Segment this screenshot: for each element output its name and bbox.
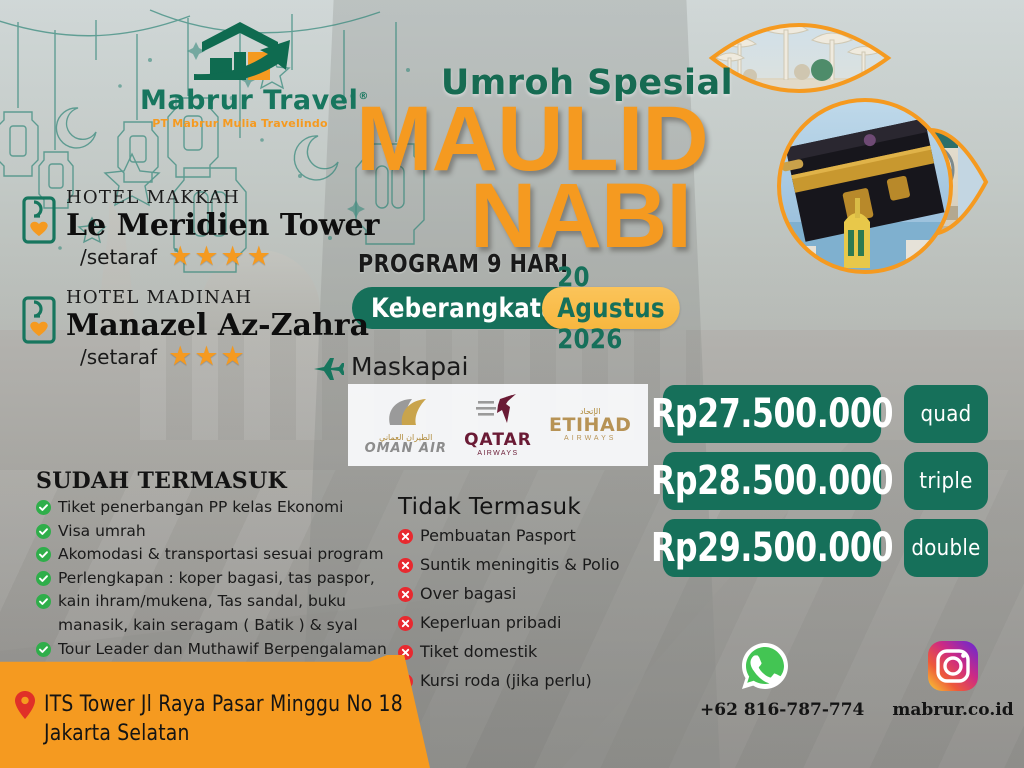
airlines-panel: الطيران العماني OMAN AIR QATAR AIRWAYS ا… <box>348 384 648 466</box>
poster-canvas: الله <box>0 0 1024 768</box>
included-item: Perlengkapan : koper bagasi, tas paspor, <box>36 568 396 592</box>
airline-oman-air-name: OMAN AIR <box>365 442 447 456</box>
hotel-makkah-stars: ★ ★ ★ ★ <box>168 243 271 270</box>
hotel-makkah-rating: /setaraf ★ ★ ★ ★ <box>80 243 379 270</box>
star-icon: ★ <box>221 343 245 370</box>
door-hanger-icon <box>22 194 56 246</box>
whatsapp-number: +62 816-787-774 <box>700 700 830 720</box>
included-item: Tour Leader dan Muthawif Berpengalaman <box>36 639 396 663</box>
address-line-1: ITS Tower Jl Raya Pasar Minggu No 18 <box>44 690 403 719</box>
check-circle-icon <box>36 524 51 545</box>
headline-title-line2: NABI <box>470 178 822 255</box>
excluded-item: Suntik meningitis & Polio <box>398 552 678 581</box>
hotel-madinah-label: HOTEL MADINAH <box>66 288 369 309</box>
qatar-oryx-logo-icon <box>474 393 522 427</box>
price-row: Rp29.500.000 double <box>648 519 1008 577</box>
price-row: Rp28.500.000 triple <box>648 452 1008 510</box>
airplane-icon <box>312 354 344 380</box>
airline-etihad-sub: AIRWAYS <box>549 435 631 442</box>
excluded-item: Keperluan pribadi <box>398 610 678 639</box>
star-icon: ★ <box>194 243 218 270</box>
instagram-icon <box>927 640 979 692</box>
airline-etihad-name: ETIHAD <box>549 416 631 436</box>
airlines-heading: Maskapai <box>312 352 468 381</box>
included-item: Akomodasi & transportasi sesuai program <box>36 544 396 568</box>
whatsapp-contact[interactable]: +62 816-787-774 <box>700 640 830 720</box>
hotel-madinah-name: Manazel Az-Zahra <box>66 309 369 343</box>
airline-oman-air: الطيران العماني OMAN AIR <box>365 395 447 456</box>
hotel-makkah-block: HOTEL MAKKAH Le Meridien Tower /setaraf … <box>22 188 379 270</box>
company-name: PT Mabrur Mulia Travelindo <box>140 117 340 130</box>
brand-logo[interactable]: Mabrur Travel® PT Mabrur Mulia Travelind… <box>140 18 340 133</box>
price-row: Rp27.500.000 quad <box>648 385 1008 443</box>
door-hanger-icon <box>22 294 56 346</box>
hotel-madinah-equivalent: /setaraf <box>80 345 157 369</box>
departure-date: 20 Agustus 2026 <box>542 287 680 329</box>
excluded-item: Kursi roda (jika perlu) <box>398 668 678 697</box>
map-pin-icon <box>14 690 36 720</box>
address-text: ITS Tower Jl Raya Pasar Minggu No 18 Jak… <box>44 690 403 748</box>
check-circle-icon <box>36 594 51 615</box>
hotel-makkah-equivalent: /setaraf <box>80 245 157 269</box>
price-amount-triple: Rp28.500.000 <box>663 452 881 510</box>
kaaba-arrow-logo-icon <box>140 18 340 80</box>
price-occupancy-triple: triple <box>904 452 988 510</box>
headline-title: MAULID NABI <box>352 101 822 256</box>
instagram-contact[interactable]: mabrur.co.id <box>888 640 1018 720</box>
airlines-label: Maskapai <box>351 352 468 381</box>
hotel-makkah-label: HOTEL MAKKAH <box>66 188 379 209</box>
included-item: kain ihram/mukena, Tas sandal, buku <box>36 591 396 615</box>
included-item: Visa umrah <box>36 521 396 545</box>
star-icon: ★ <box>194 343 218 370</box>
program-duration: PROGRAM 9 HARI <box>358 249 568 278</box>
check-circle-icon <box>36 547 51 568</box>
included-item: Tiket penerbangan PP kelas Ekonomi <box>36 497 396 521</box>
check-circle-icon <box>36 571 51 592</box>
excluded-section: Tidak Termasuk Pembuatan Pasport Suntik … <box>398 494 678 696</box>
airline-qatar-name: QATAR <box>464 432 532 450</box>
brand-name: Mabrur Travel® <box>140 87 340 114</box>
address-line-2: Jakarta Selatan <box>44 719 403 748</box>
excluded-item: Pembuatan Pasport <box>398 523 678 552</box>
price-occupancy-quad: quad <box>904 385 988 443</box>
excluded-item: Over bagasi <box>398 581 678 610</box>
price-list: Rp27.500.000 quad Rp28.500.000 triple Rp… <box>648 385 1008 586</box>
x-circle-icon <box>398 613 413 639</box>
whatsapp-icon <box>739 640 791 692</box>
x-circle-icon <box>398 526 413 552</box>
check-circle-icon <box>36 642 51 663</box>
price-occupancy-double: double <box>904 519 988 577</box>
x-circle-icon <box>398 555 413 581</box>
headline-block: Umroh Spesial MAULID NABI <box>352 66 822 256</box>
airline-qatar-airways: QATAR AIRWAYS <box>464 393 532 457</box>
excluded-title: Tidak Termasuk <box>398 494 678 520</box>
star-icon: ★ <box>247 243 271 270</box>
oman-air-logo-icon <box>376 395 436 429</box>
price-amount-quad: Rp27.500.000 <box>663 385 881 443</box>
star-icon: ★ <box>168 243 192 270</box>
star-icon: ★ <box>221 243 245 270</box>
included-title: SUDAH TERMASUK <box>36 468 396 494</box>
airline-qatar-sub: AIRWAYS <box>464 450 532 457</box>
price-amount-double: Rp29.500.000 <box>663 519 881 577</box>
check-circle-icon <box>36 500 51 521</box>
star-icon: ★ <box>168 343 192 370</box>
address-block: ITS Tower Jl Raya Pasar Minggu No 18 Jak… <box>14 690 422 748</box>
hotel-makkah-name: Le Meridien Tower <box>66 209 379 243</box>
excluded-item: Tiket domestik <box>398 639 678 668</box>
included-item-continuation: manasik, kain seragam ( Batik ) & syal <box>36 615 396 639</box>
airline-etihad-airways: الإتحاد ETIHAD AIRWAYS <box>549 408 631 443</box>
instagram-handle: mabrur.co.id <box>888 700 1018 720</box>
hotel-madinah-stars: ★ ★ ★ <box>168 343 245 370</box>
social-links: +62 816-787-774 mabrur.co.id <box>700 640 1018 720</box>
x-circle-icon <box>398 584 413 610</box>
